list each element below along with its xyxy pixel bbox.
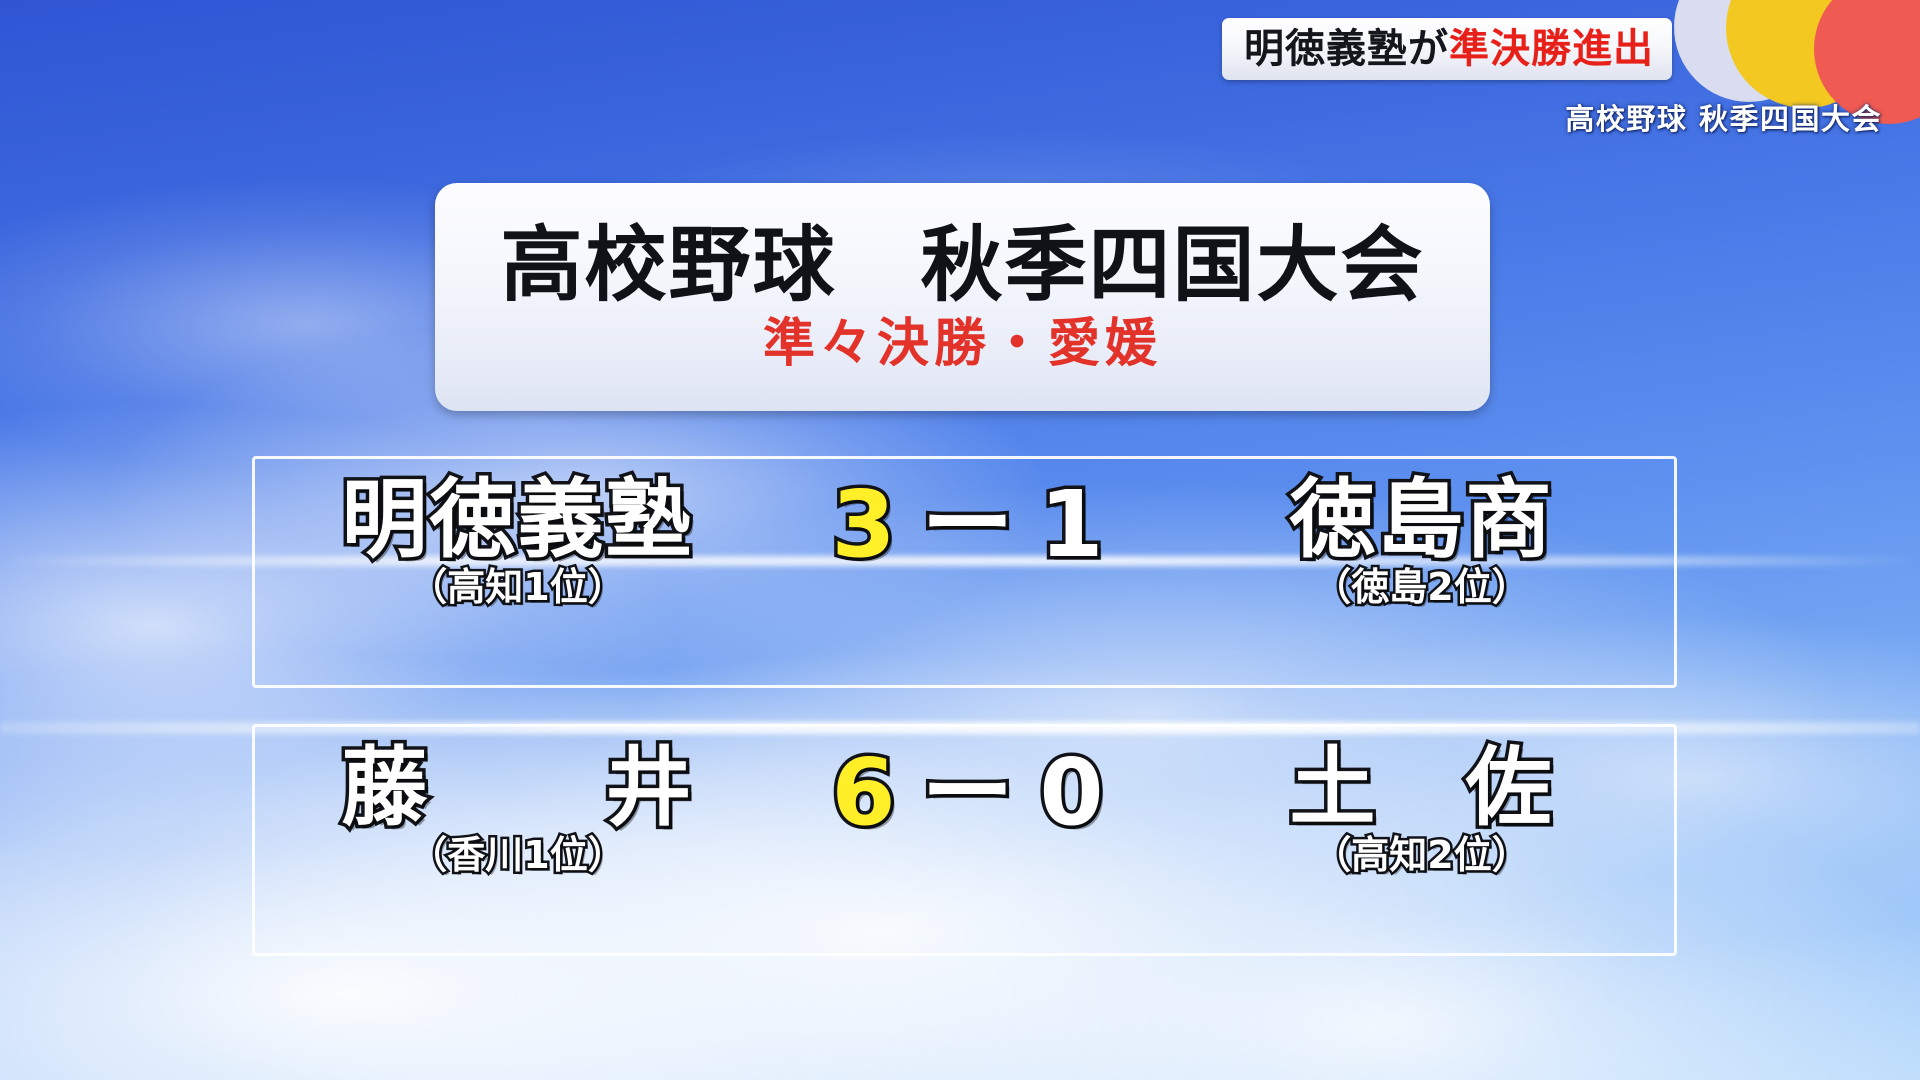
score-right: 1 <box>1040 479 1104 571</box>
headline-banner: 明徳義塾が 準決勝進出 <box>1222 18 1672 80</box>
title-card: 高校野球 秋季四国大会 準々決勝・愛媛 <box>435 183 1490 411</box>
score-row: 藤 井 （香川1位） 6 ー 0 土 佐 （高知2位） <box>252 724 1677 956</box>
team-name-right: 土 佐 <box>1290 743 1554 833</box>
team-seed-right: （高知2位） <box>1313 835 1529 877</box>
score-block: 6 ー 0 <box>753 743 1183 839</box>
score-dash: ー <box>921 747 1013 839</box>
score-left: 3 <box>831 479 895 571</box>
team-block-right: 徳島商 （徳島2位） <box>1187 475 1657 609</box>
page-subtitle: 準々決勝・愛媛 <box>763 318 1162 370</box>
score-right: 0 <box>1040 747 1104 839</box>
team-name-right: 徳島商 <box>1290 475 1554 565</box>
team-name-left: 藤 井 <box>342 743 694 833</box>
team-seed-right: （徳島2位） <box>1313 567 1529 609</box>
team-block-left: 明徳義塾 （高知1位） <box>283 475 753 609</box>
headline-team: 明徳義塾が <box>1244 29 1449 69</box>
team-block-left: 藤 井 （香川1位） <box>283 743 753 877</box>
team-name-left: 明徳義塾 <box>342 475 694 565</box>
page-title: 高校野球 秋季四国大会 <box>500 224 1424 308</box>
headline-result: 準決勝進出 <box>1449 29 1654 69</box>
score-dash: ー <box>921 479 1013 571</box>
score-left: 6 <box>831 747 895 839</box>
team-seed-left: （高知1位） <box>409 567 625 609</box>
team-block-right: 土 佐 （高知2位） <box>1187 743 1657 877</box>
score-row: 明徳義塾 （高知1位） 3 ー 1 徳島商 （徳島2位） <box>252 456 1677 688</box>
headline-subtitle: 高校野球 秋季四国大会 <box>1565 96 1882 138</box>
team-seed-left: （香川1位） <box>409 835 625 877</box>
score-block: 3 ー 1 <box>753 475 1183 571</box>
